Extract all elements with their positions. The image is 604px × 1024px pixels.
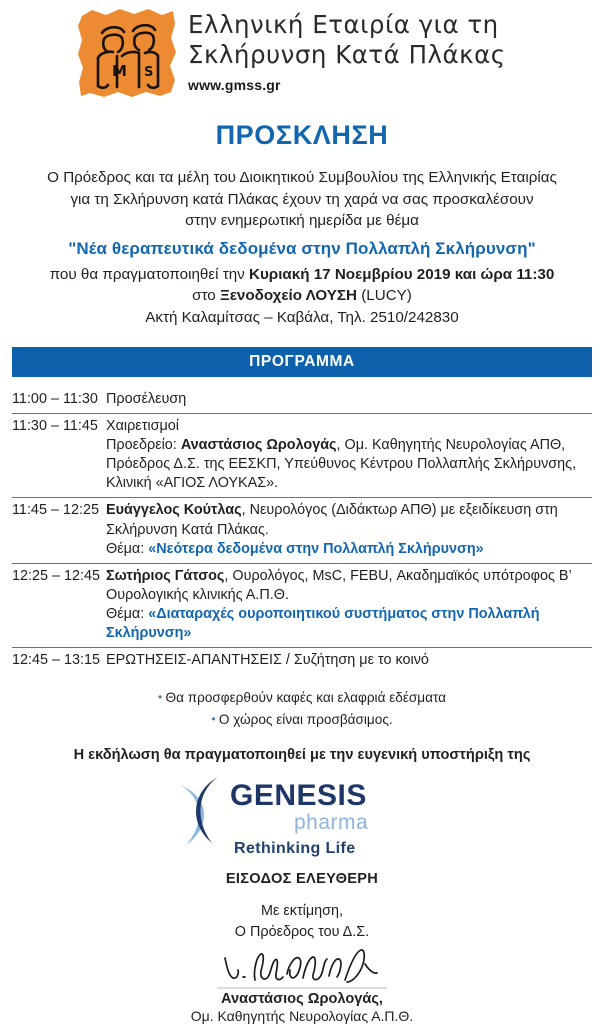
schedule-description: Σωτήριος Γάτσος, Ουρολόγος, MsC, FEBU, Α… [106,567,592,644]
org-website[interactable]: www.gmss.gr [188,77,506,93]
org-name-line-1: Ελληνική Εταιρία για τη [188,10,506,40]
intro-line-2: για τη Σκλήρυνση κατά Πλάκας έχουν τη χα… [28,189,576,211]
schedule-line: Θέμα: «Νεότερα δεδομένα στην Πολλαπλή Σκ… [106,540,592,559]
program-schedule: 11:00 – 11:30Προσέλευση11:30 – 11:45Χαιρ… [12,387,592,675]
schedule-text: Θέμα: [106,606,148,622]
bullet-icon: • [211,712,219,726]
schedule-row: 12:45 – 13:15ΕΡΩΤΗΣΕΙΣ-ΑΠΑΝΤΗΣΕΙΣ / Συζή… [12,648,592,674]
schedule-line: Ευάγγελος Κούτλας, Νευρολόγος (Διδάκτωρ … [106,501,592,539]
schedule-line: Χαιρετισμοί [106,417,592,436]
intro-paragraph: Ο Πρόεδρος και τα μέλη του Διοικητικού Σ… [0,167,604,329]
signatory-name: Αναστάσιος Ωρολογάς, [0,991,604,1007]
invitation-page: M S Ελληνική Εταιρία για τη Σκλήρυνση Κα… [0,0,604,1024]
schedule-time: 12:45 – 13:15 [12,651,106,670]
schedule-text: Προεδρείο: [106,437,181,453]
venue-name: Ξενοδοχείο ΛΟΥΣΗ [220,287,357,304]
schedule-text: Θέμα: [106,541,148,557]
closing-regards: Με εκτίμηση, Ο Πρόεδρος του Δ.Σ. [0,901,604,942]
schedule-row: 12:25 – 12:45Σωτήριος Γάτσος, Ουρολόγος,… [12,564,592,649]
event-theme: "Νέα θεραπευτικά δεδομένα στην Πολλαπλή … [28,237,576,261]
speaker-name: Σωτήριος Γάτσος [106,568,224,584]
schedule-line: Θέμα: «Διαταραχές ουροποιητικού συστήματ… [106,605,592,643]
sponsor-logo: GENESIS pharma Rethinking Life [0,771,604,859]
gmss-logo: M S [76,6,180,101]
sponsor-name: GENESIS [230,779,367,812]
schedule-description: Ευάγγελος Κούτλας, Νευρολόγος (Διδάκτωρ … [106,501,592,558]
organization-names: Ελληνική Εταιρία για τη Σκλήρυνση Κατά Π… [180,6,506,93]
document-header: M S Ελληνική Εταιρία για τη Σκλήρυνση Κα… [0,0,604,104]
regards-line-2: Ο Πρόεδρος του Δ.Σ. [0,922,604,942]
schedule-line: Προσέλευση [106,390,592,409]
logo-letter-m: M [112,62,127,80]
support-line: Η εκδήλωση θα πραγματοποιηθεί με την ευγ… [0,747,604,763]
note-item: • Ο χώρος είναι προσβάσιμος. [0,709,604,731]
talk-title: «Διαταραχές ουροποιητικού συστήματος στη… [106,606,540,641]
schedule-description: ΕΡΩΤΗΣΕΙΣ-ΑΠΑΝΤΗΣΕΙΣ / Συζήτηση με το κο… [106,651,592,670]
schedule-text: Χαιρετισμοί [106,418,179,434]
schedule-row: 11:30 – 11:45ΧαιρετισμοίΠροεδρείο: Αναστ… [12,414,592,499]
event-venue-line: στο Ξενοδοχείο ΛΟΥΣΗ (LUCY) [28,285,576,307]
speaker-name: Αναστάσιος Ωρολογάς [181,437,337,453]
intro-line-1: Ο Πρόεδρος και τα μέλη του Διοικητικού Σ… [28,167,576,189]
schedule-row: 11:00 – 11:30Προσέλευση [12,387,592,414]
schedule-time: 12:25 – 12:45 [12,567,106,644]
event-address: Ακτή Καλαμίτσας – Καβάλα, Τηλ. 2510/2428… [28,307,576,329]
program-banner: ΠΡΟΓΡΑΜΜΑ [12,347,592,377]
schedule-time: 11:45 – 12:25 [12,501,106,558]
schedule-line: Προεδρείο: Αναστάσιος Ωρολογάς, Ομ. Καθη… [106,436,592,493]
speaker-name: Ευάγγελος Κούτλας [106,502,242,518]
intro-line-3: στην ενημερωτική ημερίδα με θέμα [28,210,576,232]
schedule-line: ΕΡΩΤΗΣΕΙΣ-ΑΠΑΝΤΗΣΕΙΣ / Συζήτηση με το κο… [106,651,592,670]
talk-title: «Νεότερα δεδομένα στην Πολλαπλή Σκλήρυνσ… [148,541,483,557]
free-entry-label: ΕΙΣΟΔΟΣ ΕΛΕΥΘΕΡΗ [0,871,604,887]
org-name-line-2: Σκλήρυνση Κατά Πλάκας [188,40,506,70]
sponsor-swoosh-inner [196,777,218,843]
event-date-line: που θα πραγματοποιηθεί την Κυριακή 17 Νο… [28,264,576,286]
note-text: Θα προσφερθούν καφές και ελαφριά εδέσματ… [166,690,447,705]
page-title: ΠΡΟΣΚΛΗΣΗ [0,120,604,151]
date-prefix: που θα πραγματοποιηθεί την [50,266,249,283]
schedule-text: Προσέλευση [106,391,186,407]
sponsor-tagline: Rethinking Life [234,840,356,857]
event-notes: • Θα προσφερθούν καφές και ελαφριά εδέσμ… [0,687,604,732]
note-text: Ο χώρος είναι προσβάσιμος. [219,712,393,727]
schedule-description: ΧαιρετισμοίΠροεδρείο: Αναστάσιος Ωρολογά… [106,417,592,494]
sponsor-sub: pharma [294,811,368,834]
event-date: Κυριακή 17 Νοεμβρίου 2019 και ώρα 11:30 [249,266,554,283]
schedule-description: Προσέλευση [106,390,592,409]
schedule-text: ΕΡΩΤΗΣΕΙΣ-ΑΠΑΝΤΗΣΕΙΣ / Συζήτηση με το κο… [106,652,429,668]
schedule-time: 11:30 – 11:45 [12,417,106,494]
schedule-time: 11:00 – 11:30 [12,390,106,409]
regards-line-1: Με εκτίμηση, [0,901,604,921]
logo-letter-s: S [144,65,153,80]
venue-suffix: (LUCY) [357,287,412,304]
signature-image [0,944,604,990]
schedule-row: 11:45 – 12:25Ευάγγελος Κούτλας, Νευρολόγ… [12,498,592,563]
bullet-icon: • [158,690,166,704]
note-item: • Θα προσφερθούν καφές και ελαφριά εδέσμ… [0,687,604,709]
venue-prefix: στο [192,287,220,304]
schedule-line: Σωτήριος Γάτσος, Ουρολόγος, MsC, FEBU, Α… [106,567,592,605]
signatory-role: Ομ. Καθηγητής Νευρολογίας Α.Π.Θ. [0,1008,604,1024]
